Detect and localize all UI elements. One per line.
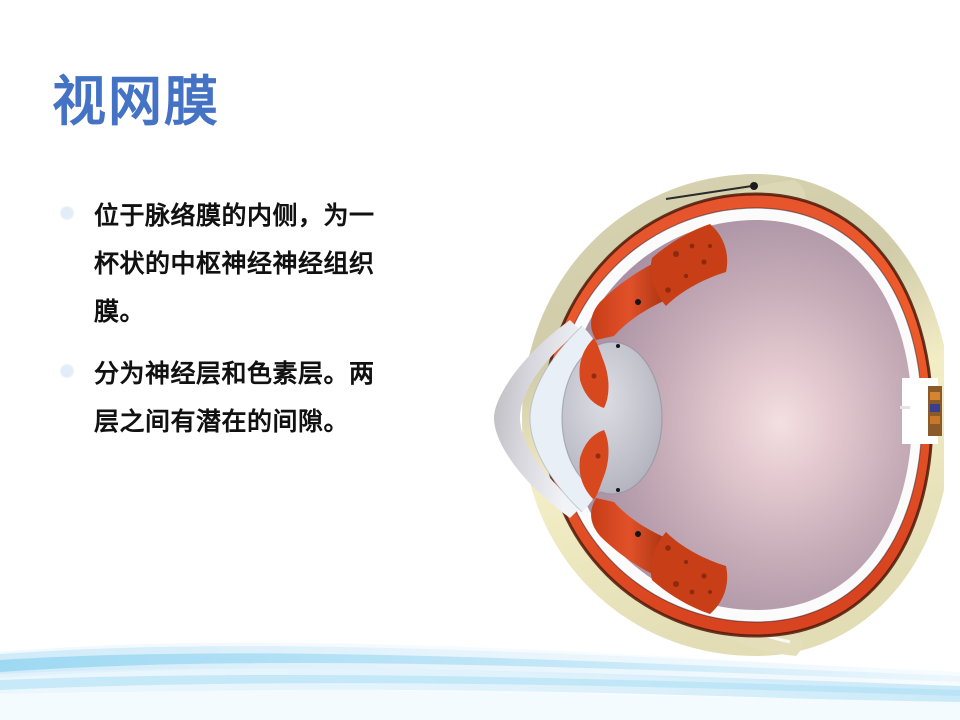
list-item: 分为神经层和色素层。两层之间有潜在的间隙。 <box>52 350 382 446</box>
list-item: 位于脉络膜的内侧，为一杯状的中枢神经神经组织膜。 <box>52 192 382 336</box>
bullet-dot-icon <box>60 206 74 220</box>
optic-nerve <box>900 378 942 444</box>
page-title: 视网膜 <box>52 74 220 131</box>
annotation-dot-icon <box>750 182 758 190</box>
list-item-text: 分为神经层和色素层。两层之间有潜在的间隙。 <box>94 350 382 446</box>
slide-canvas: 视网膜 位于脉络膜的内侧，为一杯状的中枢神经神经组织膜。 分为神经层和色素层。两… <box>0 0 960 720</box>
list-item-text: 位于脉络膜的内侧，为一杯状的中枢神经神经组织膜。 <box>94 192 382 336</box>
eye-diagram-svg <box>404 150 944 670</box>
eye-cross-section-diagram <box>404 150 944 670</box>
bullet-list: 位于脉络膜的内侧，为一杯状的中枢神经神经组织膜。 分为神经层和色素层。两层之间有… <box>52 192 382 460</box>
bullet-dot-icon <box>60 364 74 378</box>
